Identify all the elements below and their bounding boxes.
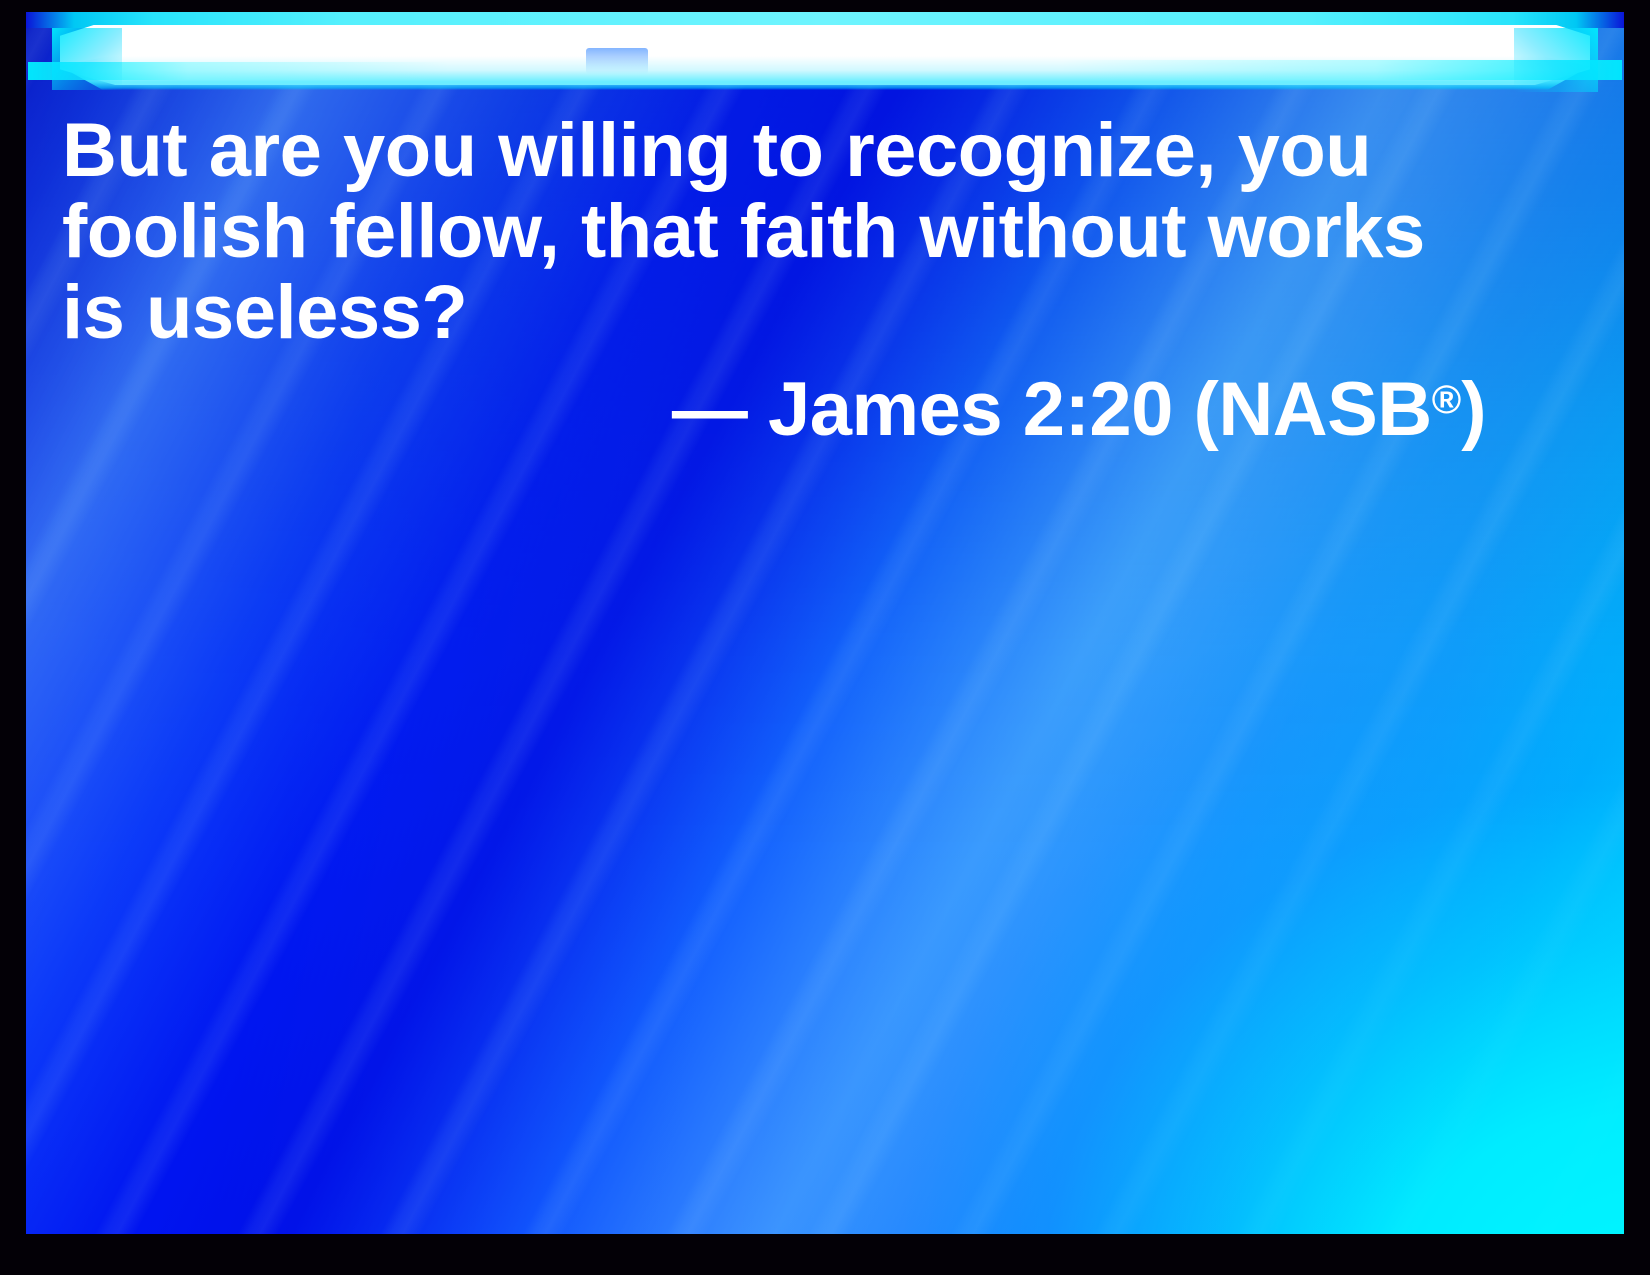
reference-chapter-verse: 2:20 bbox=[1023, 367, 1173, 452]
top-bar-left-shoulder bbox=[52, 28, 122, 90]
top-highlight-bar bbox=[26, 12, 1624, 104]
verse-reference: — James 2:20 (NASB®) bbox=[672, 368, 1486, 452]
verse-reference-block: — James 2:20 (NASB®) bbox=[62, 368, 1486, 452]
reference-translation-open: (NASB bbox=[1194, 367, 1432, 452]
reference-spacer-3 bbox=[1173, 367, 1194, 452]
reference-spacer-2 bbox=[1002, 367, 1023, 452]
scripture-slide: But are you willing to recognize, you fo… bbox=[0, 0, 1650, 1275]
reference-dash: — bbox=[672, 367, 748, 452]
background-cyan-corner-glow bbox=[537, 379, 1624, 1234]
verse-text: But are you willing to recognize, you fo… bbox=[62, 110, 1482, 353]
reference-spacer-1 bbox=[747, 367, 768, 452]
reference-book: James bbox=[768, 367, 1002, 452]
top-bar-notch bbox=[586, 48, 648, 74]
reference-translation-close: ) bbox=[1461, 367, 1486, 452]
registered-trademark-icon: ® bbox=[1432, 378, 1461, 422]
top-bar-right-shoulder bbox=[1514, 28, 1598, 92]
verse-text-block: But are you willing to recognize, you fo… bbox=[62, 110, 1482, 353]
